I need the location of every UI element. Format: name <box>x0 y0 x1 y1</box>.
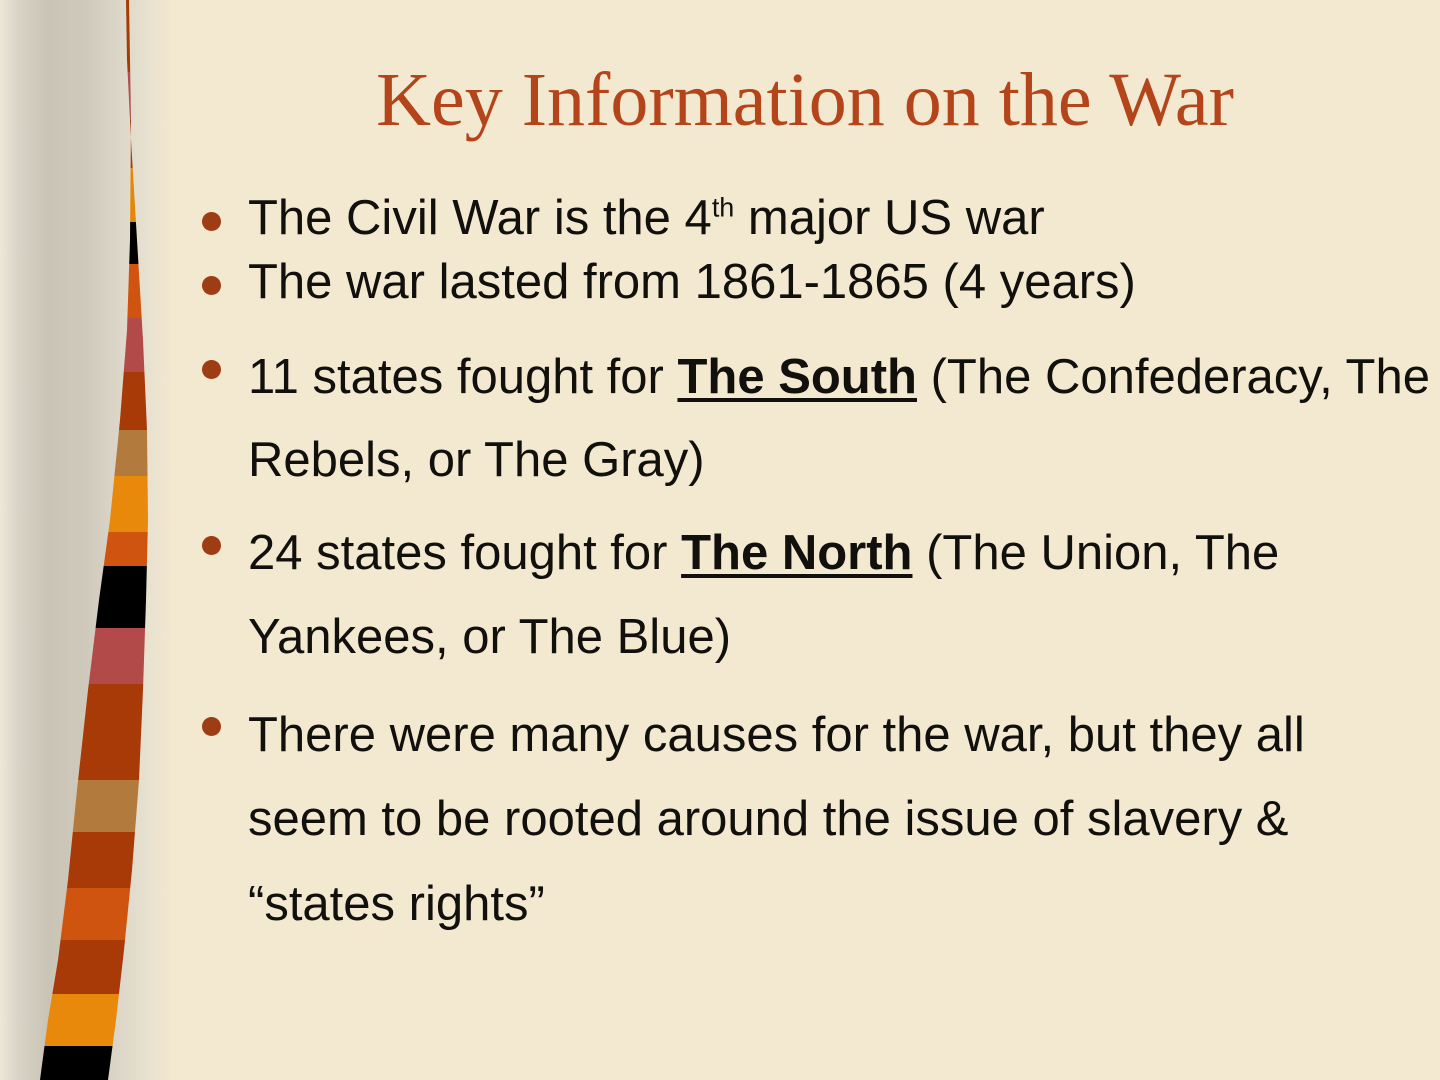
bullet-item-south-states: 11 states fought for The South (The Conf… <box>248 336 1434 503</box>
presentation-slide: Key Information on the War The Civil War… <box>0 0 1440 1080</box>
bullet-dot-icon <box>202 276 221 295</box>
bullet-item-north-states: 24 states fought for The North (The Unio… <box>248 512 1434 679</box>
bullet-item-war-duration: The war lasted from 1861-1865 (4 years) <box>248 256 1434 310</box>
list-item: 11 states fought for The South (The Conf… <box>186 336 1434 503</box>
bullet-dot-icon <box>202 360 221 379</box>
bullet-dot-icon <box>202 536 221 555</box>
bullet-text-pre: The Civil War is the 4 <box>248 191 712 245</box>
bullet-text-pre: 11 states fought for <box>248 350 677 404</box>
list-item: The war lasted from 1861-1865 (4 years) <box>186 256 1434 310</box>
list-item: The Civil War is the 4th major US war <box>186 192 1434 246</box>
bullet-text-post: major US war <box>734 191 1044 245</box>
bullet-dot-icon <box>202 212 221 231</box>
bullet-item-causes-of-war: There were many causes for the war, but … <box>248 693 1434 946</box>
emphasis-the-north: The North <box>681 526 912 580</box>
list-item: There were many causes for the war, but … <box>186 693 1434 946</box>
ordinal-suffix: th <box>712 193 734 223</box>
slide-title: Key Information on the War <box>190 62 1420 138</box>
slide-body-bullet-list: The Civil War is the 4th major US war Th… <box>186 192 1434 946</box>
emphasis-the-south: The South <box>677 350 917 404</box>
list-item: 24 states fought for The North (The Unio… <box>186 512 1434 679</box>
bullet-text-pre: 24 states fought for <box>248 526 681 580</box>
bullet-item-civil-war-rank: The Civil War is the 4th major US war <box>248 192 1434 246</box>
bullet-dot-icon <box>202 717 221 736</box>
